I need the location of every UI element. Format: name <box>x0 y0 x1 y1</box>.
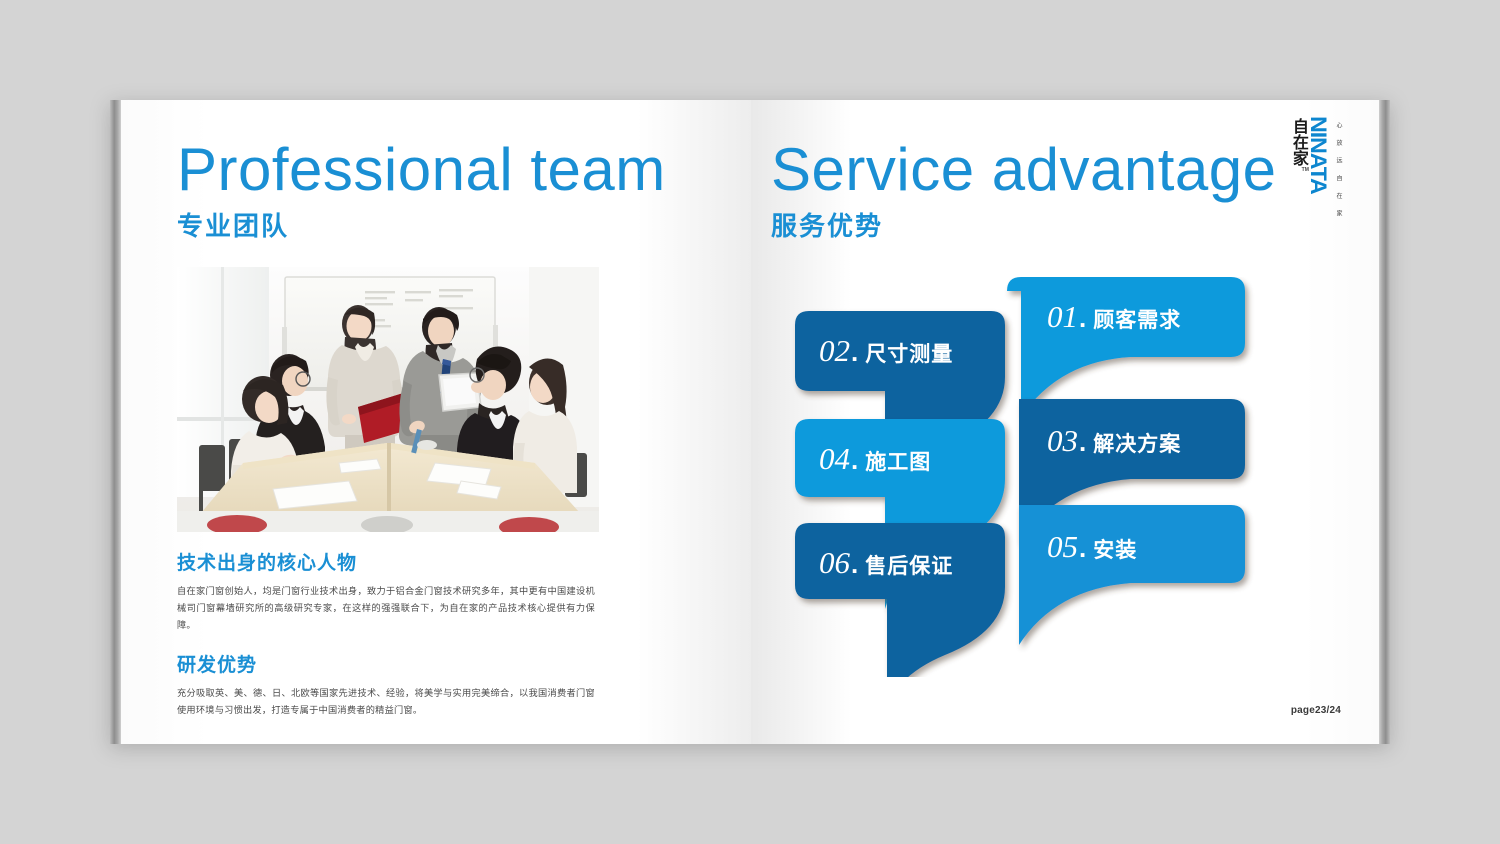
book-edge-right <box>1379 100 1390 744</box>
callout-shape-06 <box>795 523 1005 677</box>
service-process-callout-chain: 01 . 顾客需求 02 . 尺寸测量 03 . 解决方案 <box>789 277 1379 677</box>
left-page: Professional team 专业团队 <box>121 100 751 744</box>
book-edge-left <box>110 100 121 744</box>
callout-shape-01 <box>1007 277 1245 417</box>
left-body-1: 自在家门窗创始人，均是门窗行业技术出身，致力于铝合金门窗技术研究多年，其中更有中… <box>177 583 595 634</box>
brochure-spread-canvas: Professional team 专业团队 <box>0 0 1500 844</box>
open-book-spread: Professional team 专业团队 <box>110 100 1390 744</box>
left-body-2: 充分吸取英、美、德、日、北欧等国家先进技术、经验，将美学与实用完美缔合，以我国消… <box>177 685 595 719</box>
right-page: 自在家 TM NINATA 心 放 远 自 在 家 Service advant… <box>751 100 1379 744</box>
callout-shape-05 <box>1007 505 1245 645</box>
left-heading-chinese: 专业团队 <box>177 213 607 239</box>
left-heading-english: Professional team <box>177 140 607 200</box>
page-number: page23/24 <box>1291 705 1341 716</box>
business-team-meeting-photo <box>177 267 599 532</box>
right-heading-english: Service advantage <box>771 140 1371 200</box>
right-heading-chinese: 服务优势 <box>771 213 1371 239</box>
left-subheading-2: 研发优势 <box>177 656 607 675</box>
left-subheading-1: 技术出身的核心人物 <box>177 554 607 573</box>
